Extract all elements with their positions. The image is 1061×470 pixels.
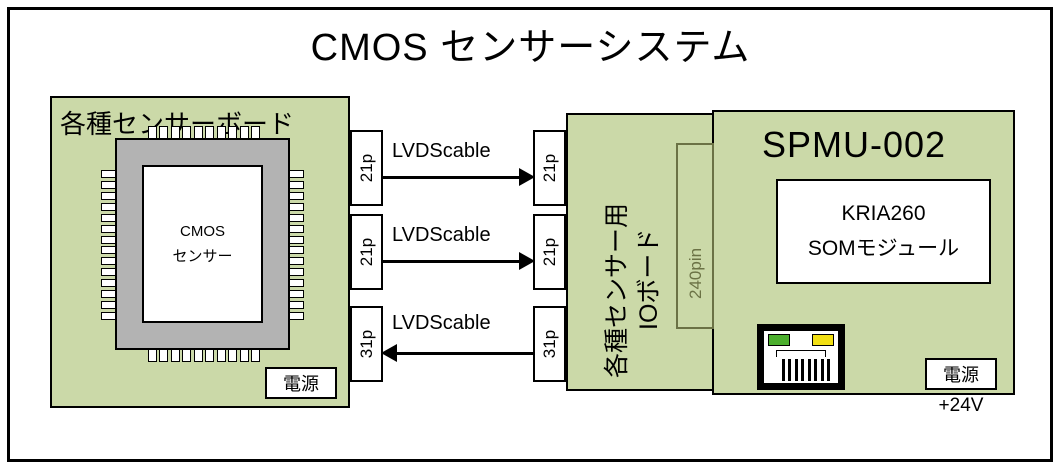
rj45-contact (801, 359, 804, 381)
chip-pin (205, 348, 214, 362)
som-module-label-line1: KRIA260 (841, 202, 925, 226)
io-connector-1-label: 21p (540, 154, 560, 182)
rj45-ethernet-jack-icon[interactable] (757, 324, 845, 390)
io-board-label-line2: IOボード (629, 229, 665, 330)
chip-pin (159, 348, 168, 362)
io-connector-2[interactable]: 21p (533, 214, 566, 290)
sensor-connector-3-label: 31p (357, 330, 377, 358)
chip-pin (251, 348, 260, 362)
chip-pin (240, 348, 249, 362)
som-module-label-line2: SOMモジュール (808, 232, 959, 262)
rj45-led-yellow-icon (812, 334, 834, 346)
rj45-contact (788, 359, 791, 381)
spmu-board-label: SPMU-002 (762, 124, 946, 166)
chip-pin (288, 170, 304, 178)
sensor-connector-2[interactable]: 21p (350, 214, 383, 290)
chip-pin (288, 192, 304, 200)
io-connector-2-label: 21p (540, 238, 560, 266)
chip-pins-bottom (148, 348, 260, 362)
sensor-connector-2-label: 21p (357, 238, 377, 266)
supply-voltage-label: +24V (918, 395, 1004, 417)
cmos-sensor-package: CMOS センサー (115, 138, 290, 350)
cable-2-label: LVDScable (392, 224, 491, 247)
connector-240pin-label: 240pin (686, 248, 706, 299)
rj45-led-green-icon (768, 334, 790, 346)
sensor-connector-1-label: 21p (357, 154, 377, 182)
rj45-contacts (782, 359, 830, 381)
chip-pin (288, 214, 304, 222)
rj45-body (762, 329, 840, 385)
io-connector-1[interactable]: 21p (533, 130, 566, 206)
cable-1-line (383, 176, 521, 179)
cable-3-label: LVDScable (392, 312, 491, 335)
connector-240pin[interactable]: 240pin (676, 143, 714, 329)
cmos-sensor-label-line2: センサー (172, 245, 232, 266)
io-connector-3-label: 31p (540, 330, 560, 358)
chip-pin (288, 236, 304, 244)
cable-2-arrow-right-icon (519, 252, 535, 270)
chip-pin (194, 348, 203, 362)
chip-pin (288, 312, 304, 320)
cable-1-label: LVDScable (392, 140, 491, 163)
chip-pins-right (288, 170, 304, 320)
spmu-board-power-connector[interactable]: 電源 (925, 358, 997, 390)
cmos-sensor-die: CMOS センサー (142, 165, 263, 323)
chip-pin (288, 268, 304, 276)
cable-3-line (396, 352, 533, 355)
chip-pin (288, 257, 304, 265)
chip-pin (288, 279, 304, 287)
rj45-contact (827, 359, 830, 381)
cable-2-line (383, 260, 521, 263)
sensor-connector-1[interactable]: 21p (350, 130, 383, 206)
chip-pin (171, 348, 180, 362)
chip-pin (288, 181, 304, 189)
cmos-sensor-label-line1: CMOS (180, 223, 225, 240)
rj45-contact (808, 359, 811, 381)
chip-pin (217, 348, 226, 362)
rj45-contact (821, 359, 824, 381)
sensor-connector-3[interactable]: 31p (350, 306, 383, 382)
cable-1-arrow-right-icon (519, 168, 535, 186)
rj45-latch-tab (776, 350, 826, 357)
diagram-title: CMOS センサーシステム (0, 16, 1061, 71)
chip-pin (288, 225, 304, 233)
chip-pin (288, 203, 304, 211)
chip-pin (228, 348, 237, 362)
chip-pin (288, 301, 304, 309)
rj45-contact (814, 359, 817, 381)
cable-3-arrow-left-icon (381, 344, 397, 362)
som-module: KRIA260 SOMモジュール (776, 179, 991, 284)
diagram-canvas: CMOS センサーシステム 各種センサーボード CMOS センサー 電源 21p… (0, 0, 1061, 470)
chip-pin (288, 246, 304, 254)
chip-pin (182, 348, 191, 362)
rj45-contact (782, 359, 785, 381)
rj45-contact (795, 359, 798, 381)
io-board-label-line1: 各種センサー用 (597, 203, 633, 378)
chip-pin (148, 348, 157, 362)
sensor-board-power-connector[interactable]: 電源 (265, 367, 337, 399)
chip-pin (288, 290, 304, 298)
io-connector-3[interactable]: 31p (533, 306, 566, 382)
